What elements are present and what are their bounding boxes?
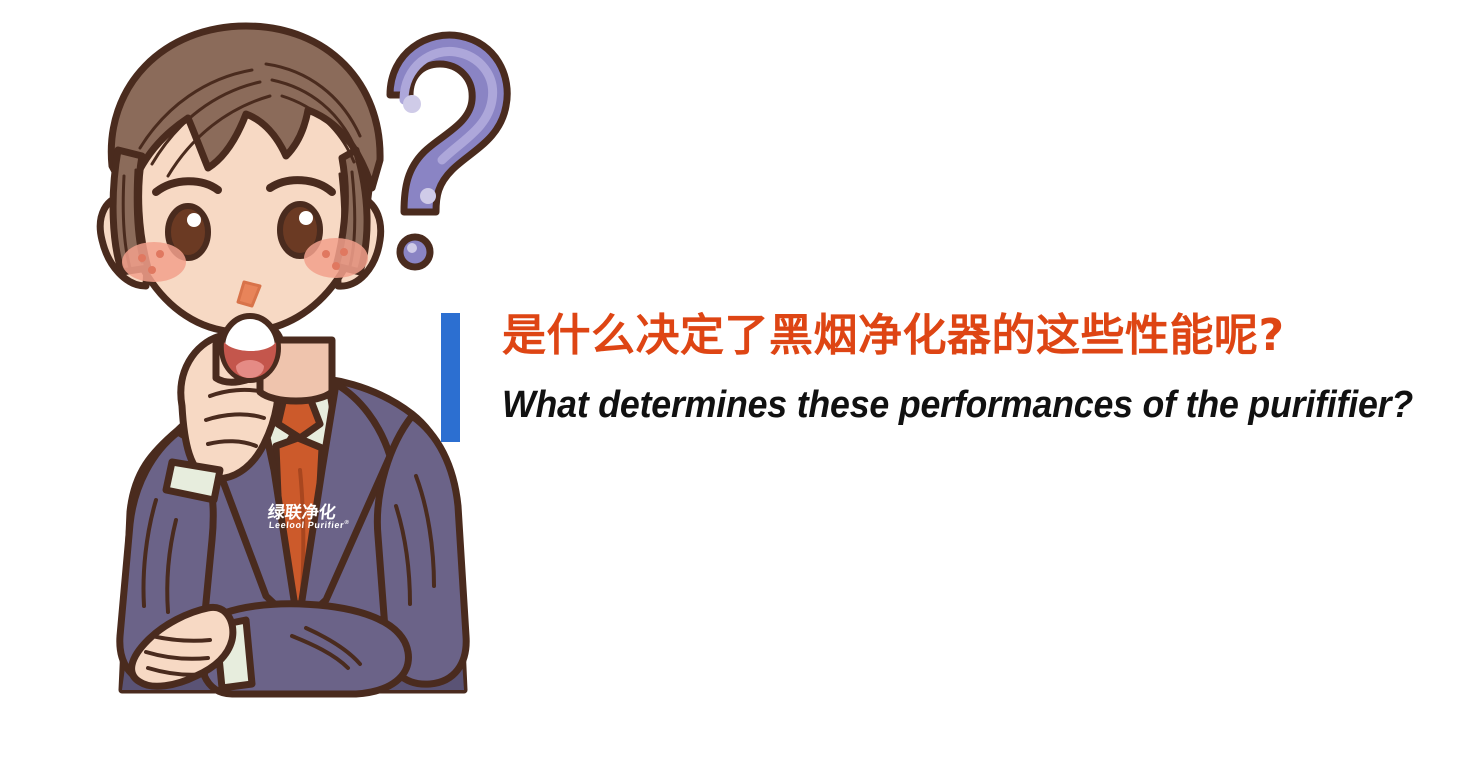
headline-english: What determines these performances of th… — [502, 380, 1413, 430]
headline-block: 是什么决定了黑烟净化器的这些性能呢? What determines these… — [441, 305, 1441, 455]
banner-canvas: 绿联净化 Leelool Purifier® 是什么决定了黑烟净化器的这些性能呢… — [0, 0, 1470, 777]
head — [100, 26, 380, 380]
accent-bar — [441, 313, 460, 442]
headline-chinese: 是什么决定了黑烟净化器的这些性能呢? — [502, 305, 1285, 367]
question-mark-icon — [390, 35, 507, 267]
